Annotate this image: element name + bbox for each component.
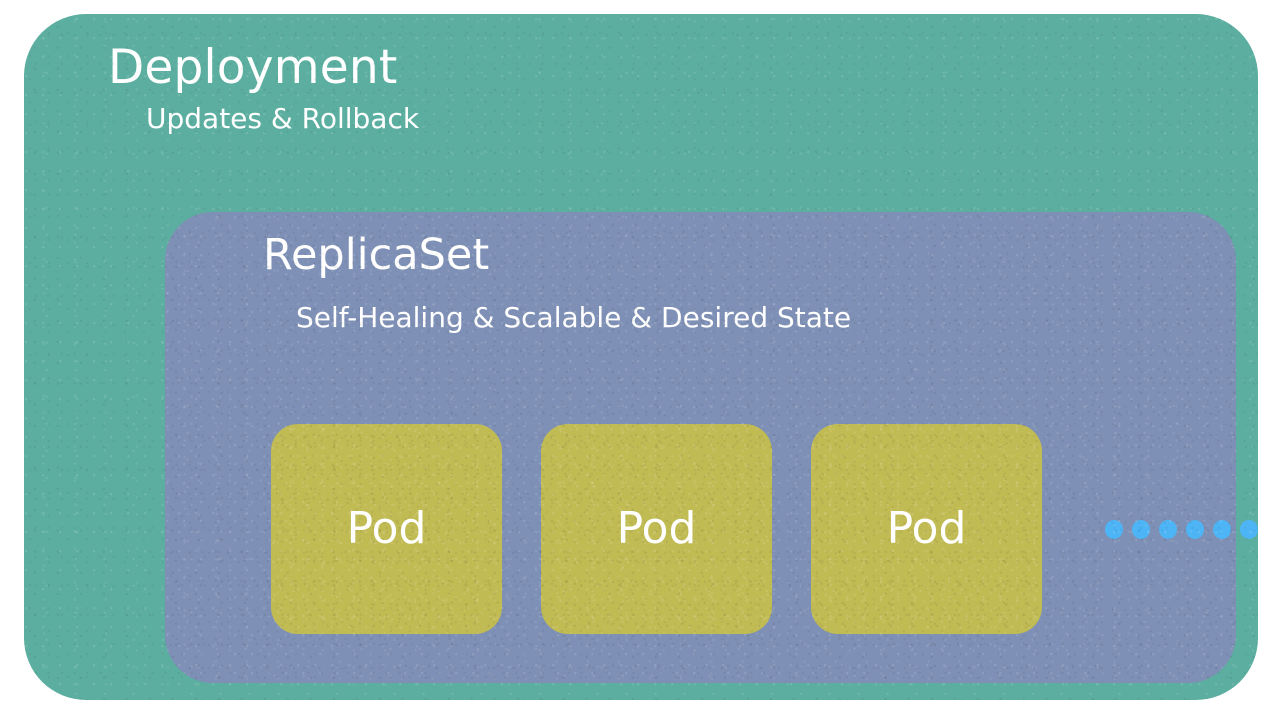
pod-label: Pod (347, 507, 427, 551)
ellipsis-dot (1240, 520, 1258, 539)
ellipsis-dot (1105, 520, 1123, 539)
replicaset-container: ReplicaSet Self-Healing & Scalable & Des… (165, 212, 1236, 683)
pods-row: Pod Pod Pod (271, 424, 1258, 634)
replicaset-subtitle: Self-Healing & Scalable & Desired State (296, 303, 851, 332)
replicaset-title: ReplicaSet (263, 233, 489, 278)
ellipsis-dot (1132, 520, 1150, 539)
ellipsis-dot (1159, 520, 1177, 539)
pod-box: Pod (271, 424, 502, 634)
deployment-container: Deployment Updates & Rollback ReplicaSet… (24, 14, 1258, 700)
pod-label: Pod (617, 507, 697, 551)
deployment-subtitle: Updates & Rollback (146, 104, 419, 133)
pods-ellipsis-icon (1105, 520, 1258, 539)
deployment-title: Deployment (108, 43, 398, 92)
ellipsis-dot (1186, 520, 1204, 539)
pod-label: Pod (887, 507, 967, 551)
pod-box: Pod (811, 424, 1042, 634)
pod-box: Pod (541, 424, 772, 634)
ellipsis-dot (1213, 520, 1231, 539)
